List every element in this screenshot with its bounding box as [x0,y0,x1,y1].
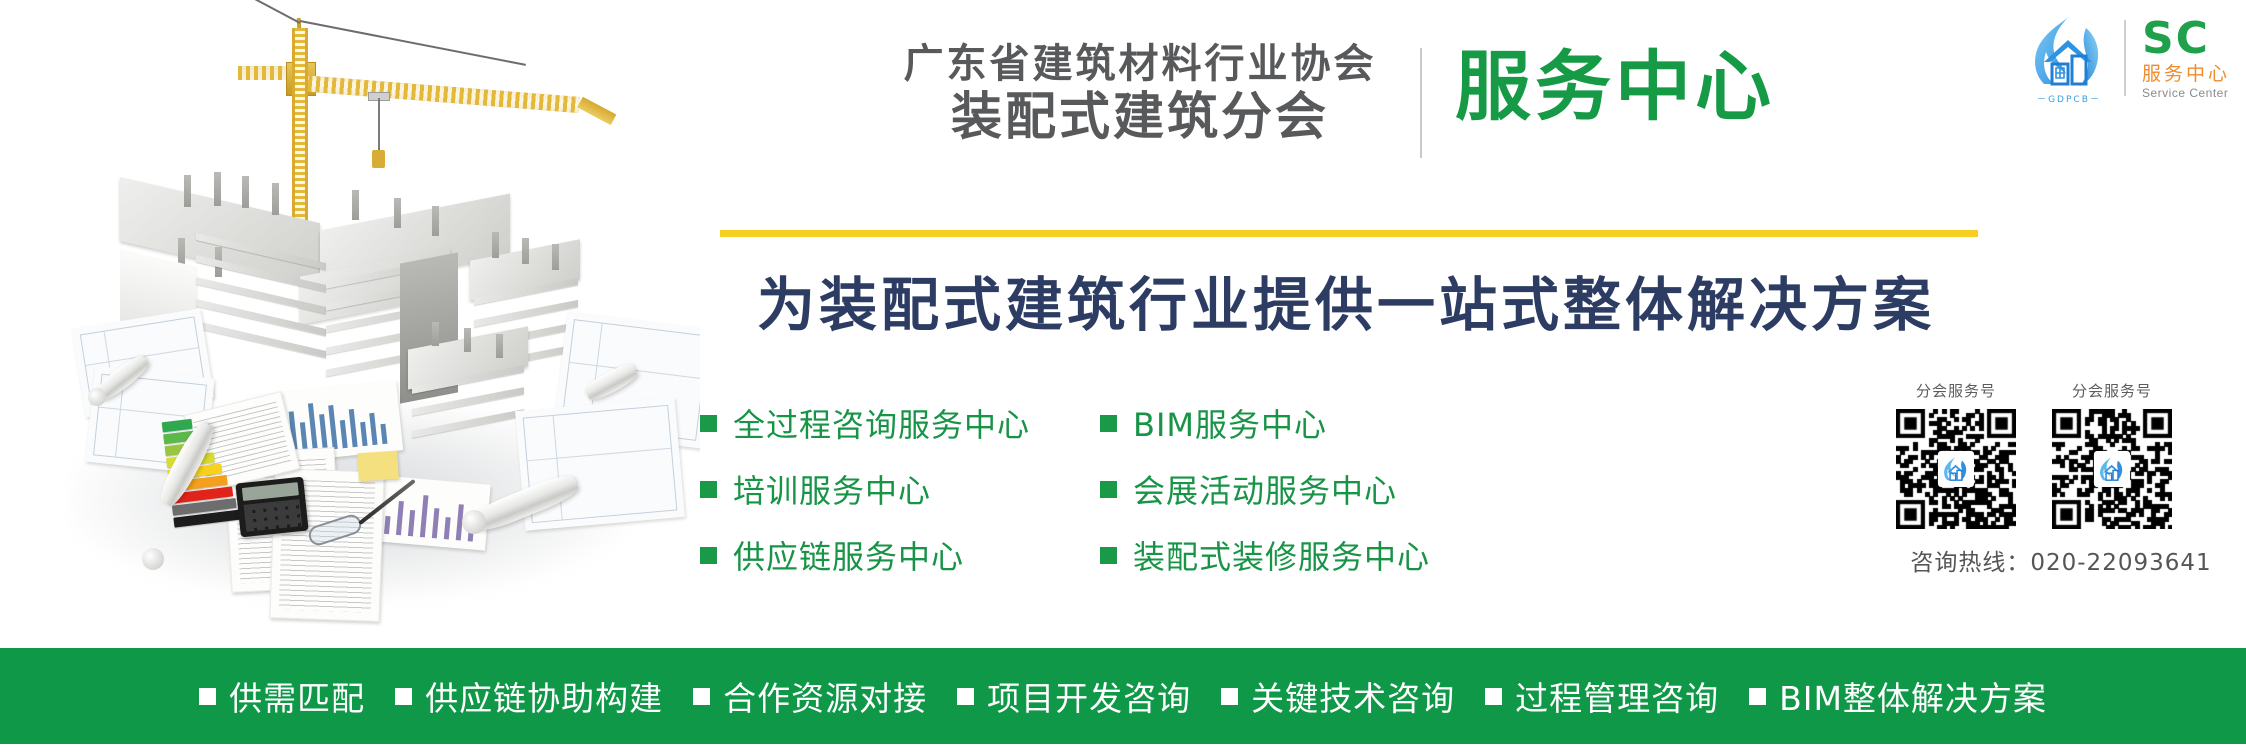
qr-code-image[interactable] [2052,409,2172,529]
qr-label: 分会服务号 [2052,380,2172,401]
rebar-column [214,172,221,206]
logo-abbreviation-text: －GDPCB－ [2030,92,2108,105]
rebar-column [242,176,249,208]
footer-label: 供应链协助构建 [425,672,663,720]
rebar-column [464,328,471,352]
service-label: 全过程咨询服务中心 [733,400,1030,446]
qr-label: 分会服务号 [1896,380,2016,401]
crane-jib-tip [577,97,616,125]
service-label: 供应链服务中心 [733,532,964,578]
bullet-square-icon [700,415,717,432]
footer-label: 项目开发咨询 [987,672,1191,720]
rebar-column [184,175,191,207]
gdpcb-house-flame-icon: －GDPCB－ [2030,12,2108,104]
footer-bar: 供需匹配 供应链协助构建 合作资源对接 项目开发咨询 关键技术咨询 过程管理咨询 [0,648,2246,744]
qr-center-logo-icon [2094,451,2130,487]
construction-photo [0,0,700,648]
service-column-left: 全过程咨询服务中心 培训服务中心 供应链服务中心 [700,390,1030,588]
qr-row: 分会服务号 [1896,380,2226,529]
crane-cable-front [300,20,526,66]
footer-item-list: 供需匹配 供应链协助构建 合作资源对接 项目开发咨询 关键技术咨询 过程管理咨询 [199,672,2047,720]
organization-name: 广东省建筑材料行业协会 装配式建筑分会 [880,42,1400,146]
rolled-blueprint-cap [88,388,106,406]
sticky-note [357,451,399,482]
bullet-square-icon [1100,481,1117,498]
rolled-blueprint-cap [142,548,164,570]
bottom-white-strip [0,744,2246,752]
service-item[interactable]: BIM服务中心 [1100,390,1430,456]
footer-label: BIM整体解决方案 [1779,672,2047,720]
footer-label: 供需匹配 [229,672,365,720]
qr-code-image[interactable] [1896,409,2016,529]
crane-hook [372,150,385,168]
bullet-square-icon [395,688,412,705]
footer-item[interactable]: 项目开发咨询 [957,672,1191,720]
logo-wordmark: SC 服务中心 Service Center [2142,17,2230,99]
service-item[interactable]: 培训服务中心 [700,456,1030,522]
rebar-column [272,183,279,215]
bullet-square-icon [700,547,717,564]
service-item[interactable]: 装配式装修服务中心 [1100,522,1430,588]
service-item[interactable]: 会展活动服务中心 [1100,456,1430,522]
bullet-square-icon [199,688,216,705]
rebar-column [432,206,439,236]
qr-item[interactable]: 分会服务号 [2052,380,2172,529]
bullet-square-icon [1221,688,1238,705]
service-column-right: BIM服务中心 会展活动服务中心 装配式装修服务中心 [1100,390,1430,588]
rebar-column [496,334,503,358]
banner-slogan: 为装配式建筑行业提供一站式整体解决方案 [696,258,1996,342]
title-divider [1420,48,1422,158]
rebar-column [522,238,529,264]
rolled-blueprint-cap [462,510,486,534]
footer-item[interactable]: 供应链协助构建 [395,672,663,720]
crane-cable-rear [238,0,301,24]
banner-content: 广东省建筑材料行业协会 装配式建筑分会 服务中心 为装配式建筑行业提供一站式整体… [700,0,2246,648]
bullet-square-icon [1100,415,1117,432]
rebar-column [492,232,499,258]
bullet-square-icon [1485,688,1502,705]
qr-center-logo-icon [1938,451,1974,487]
promotional-banner: 广东省建筑材料行业协会 装配式建筑分会 服务中心 为装配式建筑行业提供一站式整体… [0,0,2246,752]
footer-label: 过程管理咨询 [1515,672,1719,720]
rebar-column [394,198,401,228]
crane-jib [299,75,579,113]
footer-item[interactable]: 关键技术咨询 [1221,672,1455,720]
footer-item[interactable]: 合作资源对接 [693,672,927,720]
logo-sc-text: SC [2142,17,2230,61]
rebar-column [352,190,359,220]
service-item[interactable]: 全过程咨询服务中心 [700,390,1030,456]
brand-logo[interactable]: －GDPCB－ SC 服务中心 Service Center [2030,12,2230,104]
bullet-square-icon [700,481,717,498]
footer-item[interactable]: BIM整体解决方案 [1749,672,2047,720]
qr-section: 分会服务号 [1896,380,2226,577]
bullet-square-icon [1749,688,1766,705]
bullet-square-icon [1100,547,1117,564]
organization-line-1: 广东省建筑材料行业协会 [880,42,1400,87]
bullet-square-icon [693,688,710,705]
logo-cn-text: 服务中心 [2142,65,2230,84]
logo-divider [2124,20,2126,96]
hotline-text: 咨询热线：020-22093641 [1896,543,2226,577]
service-label: 装配式装修服务中心 [1133,532,1430,578]
calculator [235,477,308,538]
logo-en-text: Service Center [2142,87,2230,99]
footer-label: 关键技术咨询 [1251,672,1455,720]
service-item[interactable]: 供应链服务中心 [700,522,1030,588]
yellow-divider-line [720,230,1978,237]
service-label: BIM服务中心 [1133,400,1327,446]
bullet-square-icon [957,688,974,705]
service-label: 会展活动服务中心 [1133,466,1397,512]
footer-item[interactable]: 过程管理咨询 [1485,672,1719,720]
service-label: 培训服务中心 [733,466,931,512]
footer-item[interactable]: 供需匹配 [199,672,365,720]
rebar-column [552,244,559,270]
qr-item[interactable]: 分会服务号 [1896,380,2016,529]
crane-hook-line [378,98,380,156]
footer-label: 合作资源对接 [723,672,927,720]
rebar-column [432,322,439,346]
service-center-title: 服务中心 [1455,42,1775,132]
organization-line-2: 装配式建筑分会 [880,89,1400,146]
